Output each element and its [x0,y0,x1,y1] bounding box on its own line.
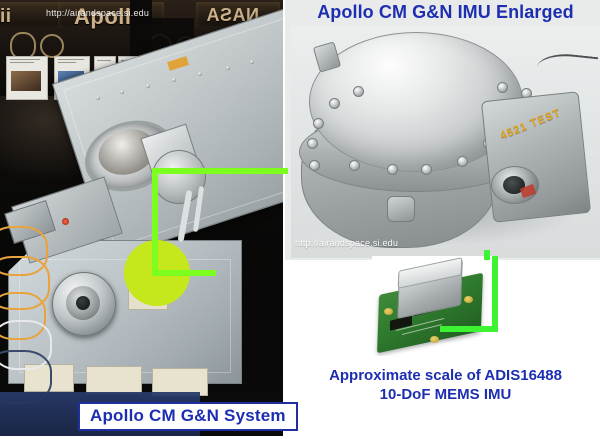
caption-mems-imu: Approximate scale of ADIS16488 10-DoF ME… [291,366,600,404]
callout-line-imu-horizontal [152,168,288,174]
adis16488-mems-imu-photo [372,256,492,356]
caption-mems-imu-line2: 10-DoF MEMS IMU [291,385,600,404]
imu-photo-watermark: http://airandspace.si.edu [295,238,398,248]
nb-beige-panel-2 [86,366,142,394]
exhibit-emblem-2 [40,34,64,58]
page-title: Apollo CM G&N IMU Enlarged [291,2,600,23]
caption-mems-imu-line1: Approximate scale of ADIS16488 [291,366,600,385]
caption-apollo-gn-system-text: Apollo CM G&N System [90,406,286,425]
nb-indicator-led [62,218,69,225]
callout-line-mems-stub [484,250,490,260]
callout-line-imu-vertical [152,168,158,276]
left-photo-watermark: http://airandspace.si.edu [46,8,149,18]
mems-mount-hole-2 [464,296,473,303]
mems-mount-hole-1 [384,308,393,315]
imu-antenna-wire [536,51,599,85]
callout-line-imu-bottom [152,270,216,276]
caption-apollo-gn-system: Apollo CM G&N System [78,402,298,431]
mems-mount-hole-3 [430,336,439,343]
callout-line-mems-horizontal [440,326,498,332]
apollo-gn-system-photo: ii Apollo NASA [0,0,283,436]
imu-fill-valve [387,196,415,222]
callout-line-mems-vertical [492,256,498,332]
exhibit-info-card-1 [6,56,48,100]
exhibit-word-ii: ii [0,6,12,28]
nb-hub-bore [76,296,90,310]
figure-canvas: ii Apollo NASA [0,0,600,439]
apollo-imu-enlarged-photo: 4521 TEST http://airandspace.si.edu [291,26,600,258]
